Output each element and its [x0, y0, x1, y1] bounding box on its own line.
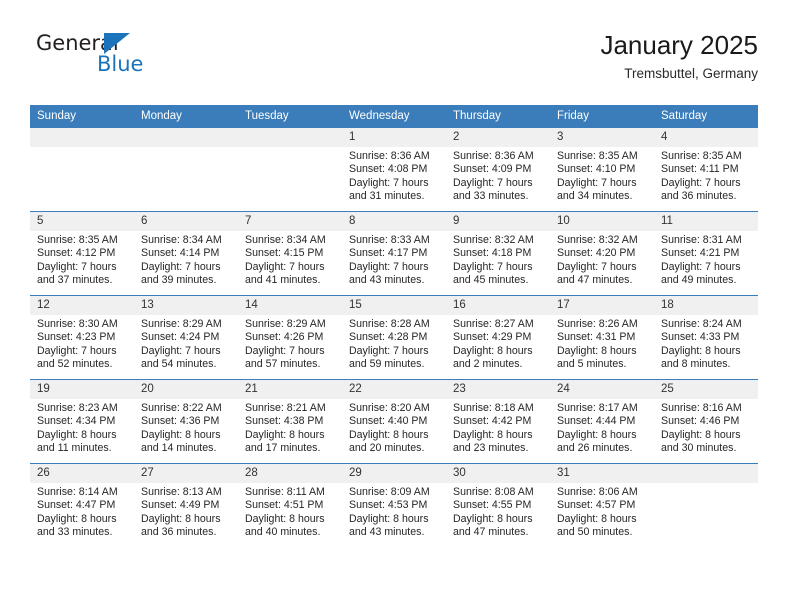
calendar-day-cell[interactable]: 3Sunrise: 8:35 AMSunset: 4:10 PMDaylight… — [550, 128, 654, 212]
daylight-duration-line-2: and 41 minutes. — [245, 274, 337, 287]
day-details: Sunrise: 8:36 AMSunset: 4:08 PMDaylight:… — [342, 147, 446, 204]
daylight-duration-line-1: Daylight: 7 hours — [557, 177, 649, 190]
sunrise-time: Sunrise: 8:29 AM — [245, 318, 337, 331]
daylight-duration-line-1: Daylight: 7 hours — [245, 345, 337, 358]
sunrise-time: Sunrise: 8:13 AM — [141, 486, 233, 499]
calendar-day-cell[interactable]: 9Sunrise: 8:32 AMSunset: 4:18 PMDaylight… — [446, 212, 550, 296]
sunset-time: Sunset: 4:36 PM — [141, 415, 233, 428]
day-number — [30, 128, 134, 147]
day-number: 1 — [342, 128, 446, 147]
daylight-duration-line-1: Daylight: 7 hours — [661, 261, 753, 274]
day-number: 3 — [550, 128, 654, 147]
sunset-time: Sunset: 4:51 PM — [245, 499, 337, 512]
day-number: 25 — [654, 380, 758, 399]
day-details: Sunrise: 8:22 AMSunset: 4:36 PMDaylight:… — [134, 399, 238, 456]
sunrise-time: Sunrise: 8:35 AM — [557, 150, 649, 163]
sunrise-time: Sunrise: 8:32 AM — [557, 234, 649, 247]
day-details: Sunrise: 8:13 AMSunset: 4:49 PMDaylight:… — [134, 483, 238, 540]
daylight-duration-line-2: and 23 minutes. — [453, 442, 545, 455]
daylight-duration-line-1: Daylight: 7 hours — [37, 261, 129, 274]
calendar-day-cell[interactable]: 16Sunrise: 8:27 AMSunset: 4:29 PMDayligh… — [446, 296, 550, 380]
calendar-day-cell[interactable]: 15Sunrise: 8:28 AMSunset: 4:28 PMDayligh… — [342, 296, 446, 380]
calendar-day-cell[interactable]: 2Sunrise: 8:36 AMSunset: 4:09 PMDaylight… — [446, 128, 550, 212]
daylight-duration-line-1: Daylight: 7 hours — [661, 177, 753, 190]
day-number: 4 — [654, 128, 758, 147]
sunset-time: Sunset: 4:46 PM — [661, 415, 753, 428]
sunrise-time: Sunrise: 8:11 AM — [245, 486, 337, 499]
sunset-time: Sunset: 4:12 PM — [37, 247, 129, 260]
day-details: Sunrise: 8:34 AMSunset: 4:15 PMDaylight:… — [238, 231, 342, 288]
day-details: Sunrise: 8:35 AMSunset: 4:12 PMDaylight:… — [30, 231, 134, 288]
calendar-day-cell[interactable]: 13Sunrise: 8:29 AMSunset: 4:24 PMDayligh… — [134, 296, 238, 380]
calendar-header-row: Sunday Monday Tuesday Wednesday Thursday… — [30, 105, 758, 128]
calendar-day-cell[interactable]: 5Sunrise: 8:35 AMSunset: 4:12 PMDaylight… — [30, 212, 134, 296]
sunrise-time: Sunrise: 8:23 AM — [37, 402, 129, 415]
day-number: 14 — [238, 296, 342, 315]
day-details — [134, 147, 238, 150]
sunset-time: Sunset: 4:18 PM — [453, 247, 545, 260]
weekday-header-saturday: Saturday — [654, 105, 758, 128]
daylight-duration-line-1: Daylight: 8 hours — [557, 345, 649, 358]
daylight-duration-line-2: and 34 minutes. — [557, 190, 649, 203]
sunrise-time: Sunrise: 8:36 AM — [453, 150, 545, 163]
day-number: 6 — [134, 212, 238, 231]
daylight-duration-line-1: Daylight: 8 hours — [661, 345, 753, 358]
sunset-time: Sunset: 4:31 PM — [557, 331, 649, 344]
calendar-day-cell[interactable]: 14Sunrise: 8:29 AMSunset: 4:26 PMDayligh… — [238, 296, 342, 380]
daylight-duration-line-2: and 43 minutes. — [349, 274, 441, 287]
weekday-header-wednesday: Wednesday — [342, 105, 446, 128]
daylight-duration-line-1: Daylight: 7 hours — [349, 177, 441, 190]
sunrise-time: Sunrise: 8:06 AM — [557, 486, 649, 499]
daylight-duration-line-1: Daylight: 8 hours — [557, 513, 649, 526]
day-details — [238, 147, 342, 150]
sunset-time: Sunset: 4:29 PM — [453, 331, 545, 344]
day-number: 16 — [446, 296, 550, 315]
calendar-day-cell[interactable]: 1Sunrise: 8:36 AMSunset: 4:08 PMDaylight… — [342, 128, 446, 212]
daylight-duration-line-1: Daylight: 8 hours — [349, 513, 441, 526]
sunset-time: Sunset: 4:24 PM — [141, 331, 233, 344]
day-number: 21 — [238, 380, 342, 399]
day-number: 24 — [550, 380, 654, 399]
weekday-header-tuesday: Tuesday — [238, 105, 342, 128]
day-number — [654, 464, 758, 483]
calendar-week-row: 19Sunrise: 8:23 AMSunset: 4:34 PMDayligh… — [30, 380, 758, 464]
sunrise-time: Sunrise: 8:17 AM — [557, 402, 649, 415]
day-details: Sunrise: 8:35 AMSunset: 4:11 PMDaylight:… — [654, 147, 758, 204]
daylight-duration-line-2: and 14 minutes. — [141, 442, 233, 455]
sunset-time: Sunset: 4:44 PM — [557, 415, 649, 428]
sunset-time: Sunset: 4:15 PM — [245, 247, 337, 260]
day-number: 26 — [30, 464, 134, 483]
daylight-duration-line-1: Daylight: 8 hours — [37, 429, 129, 442]
page-title: January 2025 — [600, 28, 758, 62]
calendar-day-cell-empty — [30, 128, 134, 212]
day-details: Sunrise: 8:23 AMSunset: 4:34 PMDaylight:… — [30, 399, 134, 456]
sunrise-time: Sunrise: 8:16 AM — [661, 402, 753, 415]
calendar-day-cell[interactable]: 25Sunrise: 8:16 AMSunset: 4:46 PMDayligh… — [654, 380, 758, 464]
sunrise-time: Sunrise: 8:21 AM — [245, 402, 337, 415]
day-number: 15 — [342, 296, 446, 315]
sunset-time: Sunset: 4:10 PM — [557, 163, 649, 176]
daylight-duration-line-2: and 47 minutes. — [557, 274, 649, 287]
weekday-header-thursday: Thursday — [446, 105, 550, 128]
day-number: 10 — [550, 212, 654, 231]
daylight-duration-line-2: and 39 minutes. — [141, 274, 233, 287]
daylight-duration-line-1: Daylight: 7 hours — [557, 261, 649, 274]
sunset-time: Sunset: 4:38 PM — [245, 415, 337, 428]
day-number: 2 — [446, 128, 550, 147]
daylight-duration-line-2: and 2 minutes. — [453, 358, 545, 371]
daylight-duration-line-2: and 30 minutes. — [661, 442, 753, 455]
sunrise-time: Sunrise: 8:34 AM — [141, 234, 233, 247]
daylight-duration-line-2: and 54 minutes. — [141, 358, 233, 371]
sunset-time: Sunset: 4:17 PM — [349, 247, 441, 260]
sunrise-time: Sunrise: 8:26 AM — [557, 318, 649, 331]
calendar-day-cell[interactable]: 23Sunrise: 8:18 AMSunset: 4:42 PMDayligh… — [446, 380, 550, 464]
day-number: 18 — [654, 296, 758, 315]
calendar-day-cell[interactable]: 22Sunrise: 8:20 AMSunset: 4:40 PMDayligh… — [342, 380, 446, 464]
daylight-duration-line-2: and 37 minutes. — [37, 274, 129, 287]
day-details: Sunrise: 8:27 AMSunset: 4:29 PMDaylight:… — [446, 315, 550, 372]
calendar-week-row: 1Sunrise: 8:36 AMSunset: 4:08 PMDaylight… — [30, 128, 758, 212]
weekday-header-sunday: Sunday — [30, 105, 134, 128]
day-details: Sunrise: 8:29 AMSunset: 4:24 PMDaylight:… — [134, 315, 238, 372]
sunset-time: Sunset: 4:42 PM — [453, 415, 545, 428]
sunset-time: Sunset: 4:14 PM — [141, 247, 233, 260]
sunset-time: Sunset: 4:23 PM — [37, 331, 129, 344]
sunrise-time: Sunrise: 8:14 AM — [37, 486, 129, 499]
calendar-day-cell[interactable]: 17Sunrise: 8:26 AMSunset: 4:31 PMDayligh… — [550, 296, 654, 380]
sunset-time: Sunset: 4:09 PM — [453, 163, 545, 176]
day-details: Sunrise: 8:18 AMSunset: 4:42 PMDaylight:… — [446, 399, 550, 456]
sunrise-time: Sunrise: 8:33 AM — [349, 234, 441, 247]
calendar-week-row: 12Sunrise: 8:30 AMSunset: 4:23 PMDayligh… — [30, 296, 758, 380]
day-number: 13 — [134, 296, 238, 315]
sunrise-time: Sunrise: 8:31 AM — [661, 234, 753, 247]
daylight-duration-line-2: and 5 minutes. — [557, 358, 649, 371]
sunset-time: Sunset: 4:21 PM — [661, 247, 753, 260]
daylight-duration-line-1: Daylight: 7 hours — [245, 261, 337, 274]
daylight-duration-line-2: and 26 minutes. — [557, 442, 649, 455]
day-details: Sunrise: 8:26 AMSunset: 4:31 PMDaylight:… — [550, 315, 654, 372]
daylight-duration-line-1: Daylight: 7 hours — [453, 261, 545, 274]
calendar-day-cell[interactable]: 19Sunrise: 8:23 AMSunset: 4:34 PMDayligh… — [30, 380, 134, 464]
daylight-duration-line-2: and 33 minutes. — [37, 526, 129, 539]
daylight-duration-line-2: and 49 minutes. — [661, 274, 753, 287]
daylight-duration-line-1: Daylight: 8 hours — [661, 429, 753, 442]
calendar-day-cell[interactable]: 24Sunrise: 8:17 AMSunset: 4:44 PMDayligh… — [550, 380, 654, 464]
sunset-time: Sunset: 4:47 PM — [37, 499, 129, 512]
logo-triangle-icon — [104, 33, 130, 54]
daylight-duration-line-2: and 50 minutes. — [557, 526, 649, 539]
calendar-day-cell[interactable]: 11Sunrise: 8:31 AMSunset: 4:21 PMDayligh… — [654, 212, 758, 296]
daylight-duration-line-1: Daylight: 7 hours — [37, 345, 129, 358]
day-details: Sunrise: 8:11 AMSunset: 4:51 PMDaylight:… — [238, 483, 342, 540]
daylight-duration-line-1: Daylight: 8 hours — [141, 429, 233, 442]
calendar-day-cell[interactable]: 18Sunrise: 8:24 AMSunset: 4:33 PMDayligh… — [654, 296, 758, 380]
day-number: 7 — [238, 212, 342, 231]
calendar-day-cell[interactable]: 21Sunrise: 8:21 AMSunset: 4:38 PMDayligh… — [238, 380, 342, 464]
daylight-duration-line-2: and 52 minutes. — [37, 358, 129, 371]
day-number: 8 — [342, 212, 446, 231]
sunrise-time: Sunrise: 8:35 AM — [661, 150, 753, 163]
day-details: Sunrise: 8:31 AMSunset: 4:21 PMDaylight:… — [654, 231, 758, 288]
daylight-duration-line-2: and 31 minutes. — [349, 190, 441, 203]
sunrise-time: Sunrise: 8:32 AM — [453, 234, 545, 247]
day-details: Sunrise: 8:32 AMSunset: 4:18 PMDaylight:… — [446, 231, 550, 288]
sunset-time: Sunset: 4:55 PM — [453, 499, 545, 512]
daylight-duration-line-1: Daylight: 8 hours — [453, 513, 545, 526]
weekday-header-friday: Friday — [550, 105, 654, 128]
sunset-time: Sunset: 4:49 PM — [141, 499, 233, 512]
day-details: Sunrise: 8:20 AMSunset: 4:40 PMDaylight:… — [342, 399, 446, 456]
calendar-day-cell[interactable]: 4Sunrise: 8:35 AMSunset: 4:11 PMDaylight… — [654, 128, 758, 212]
calendar-day-cell[interactable]: 8Sunrise: 8:33 AMSunset: 4:17 PMDaylight… — [342, 212, 446, 296]
sunrise-time: Sunrise: 8:22 AM — [141, 402, 233, 415]
daylight-duration-line-1: Daylight: 8 hours — [557, 429, 649, 442]
daylight-duration-line-2: and 40 minutes. — [245, 526, 337, 539]
calendar-day-cell[interactable]: 7Sunrise: 8:34 AMSunset: 4:15 PMDaylight… — [238, 212, 342, 296]
calendar-day-cell[interactable]: 12Sunrise: 8:30 AMSunset: 4:23 PMDayligh… — [30, 296, 134, 380]
sunset-time: Sunset: 4:20 PM — [557, 247, 649, 260]
day-details: Sunrise: 8:14 AMSunset: 4:47 PMDaylight:… — [30, 483, 134, 540]
day-details: Sunrise: 8:33 AMSunset: 4:17 PMDaylight:… — [342, 231, 446, 288]
logo-text-blue: Blue — [97, 52, 143, 76]
daylight-duration-line-1: Daylight: 8 hours — [453, 345, 545, 358]
calendar-day-cell[interactable]: 20Sunrise: 8:22 AMSunset: 4:36 PMDayligh… — [134, 380, 238, 464]
daylight-duration-line-1: Daylight: 8 hours — [453, 429, 545, 442]
day-number — [134, 128, 238, 147]
sunset-time: Sunset: 4:53 PM — [349, 499, 441, 512]
day-number: 23 — [446, 380, 550, 399]
day-details: Sunrise: 8:30 AMSunset: 4:23 PMDaylight:… — [30, 315, 134, 372]
calendar-week-row: 26Sunrise: 8:14 AMSunset: 4:47 PMDayligh… — [30, 464, 758, 548]
day-details — [30, 147, 134, 150]
day-number: 19 — [30, 380, 134, 399]
calendar-day-cell[interactable]: 30Sunrise: 8:08 AMSunset: 4:55 PMDayligh… — [446, 464, 550, 548]
day-details: Sunrise: 8:35 AMSunset: 4:10 PMDaylight:… — [550, 147, 654, 204]
sunrise-time: Sunrise: 8:18 AM — [453, 402, 545, 415]
calendar-week-row: 5Sunrise: 8:35 AMSunset: 4:12 PMDaylight… — [30, 212, 758, 296]
calendar-body: 1Sunrise: 8:36 AMSunset: 4:08 PMDaylight… — [30, 128, 758, 548]
day-number: 30 — [446, 464, 550, 483]
daylight-duration-line-1: Daylight: 7 hours — [453, 177, 545, 190]
daylight-duration-line-1: Daylight: 7 hours — [349, 345, 441, 358]
day-number — [238, 128, 342, 147]
day-number: 27 — [134, 464, 238, 483]
daylight-duration-line-2: and 33 minutes. — [453, 190, 545, 203]
sunrise-time: Sunrise: 8:36 AM — [349, 150, 441, 163]
day-number: 31 — [550, 464, 654, 483]
day-number: 28 — [238, 464, 342, 483]
sunset-time: Sunset: 4:08 PM — [349, 163, 441, 176]
calendar-day-cell-empty — [238, 128, 342, 212]
general-blue-logo: General Blue — [36, 31, 216, 87]
day-details: Sunrise: 8:29 AMSunset: 4:26 PMDaylight:… — [238, 315, 342, 372]
sunset-time: Sunset: 4:11 PM — [661, 163, 753, 176]
sunrise-time: Sunrise: 8:35 AM — [37, 234, 129, 247]
calendar-day-cell[interactable]: 29Sunrise: 8:09 AMSunset: 4:53 PMDayligh… — [342, 464, 446, 548]
day-number: 20 — [134, 380, 238, 399]
day-details: Sunrise: 8:16 AMSunset: 4:46 PMDaylight:… — [654, 399, 758, 456]
day-number: 29 — [342, 464, 446, 483]
day-details: Sunrise: 8:36 AMSunset: 4:09 PMDaylight:… — [446, 147, 550, 204]
daylight-duration-line-2: and 45 minutes. — [453, 274, 545, 287]
daylight-duration-line-1: Daylight: 7 hours — [141, 345, 233, 358]
daylight-duration-line-2: and 11 minutes. — [37, 442, 129, 455]
daylight-duration-line-2: and 43 minutes. — [349, 526, 441, 539]
calendar-day-cell[interactable]: 28Sunrise: 8:11 AMSunset: 4:51 PMDayligh… — [238, 464, 342, 548]
sunrise-time: Sunrise: 8:09 AM — [349, 486, 441, 499]
calendar-day-cell[interactable]: 6Sunrise: 8:34 AMSunset: 4:14 PMDaylight… — [134, 212, 238, 296]
day-number: 22 — [342, 380, 446, 399]
sunset-time: Sunset: 4:34 PM — [37, 415, 129, 428]
sunrise-time: Sunrise: 8:29 AM — [141, 318, 233, 331]
daylight-duration-line-2: and 20 minutes. — [349, 442, 441, 455]
sunset-time: Sunset: 4:57 PM — [557, 499, 649, 512]
title-block: January 2025 Tremsbuttel, Germany — [600, 28, 758, 84]
day-details: Sunrise: 8:06 AMSunset: 4:57 PMDaylight:… — [550, 483, 654, 540]
day-number: 9 — [446, 212, 550, 231]
daylight-duration-line-2: and 36 minutes. — [141, 526, 233, 539]
sunrise-time: Sunrise: 8:34 AM — [245, 234, 337, 247]
daylight-duration-line-1: Daylight: 8 hours — [245, 513, 337, 526]
day-details — [654, 483, 758, 486]
calendar-day-cell[interactable]: 26Sunrise: 8:14 AMSunset: 4:47 PMDayligh… — [30, 464, 134, 548]
daylight-duration-line-1: Daylight: 8 hours — [141, 513, 233, 526]
day-number: 11 — [654, 212, 758, 231]
calendar-grid: Sunday Monday Tuesday Wednesday Thursday… — [30, 105, 758, 547]
day-details: Sunrise: 8:32 AMSunset: 4:20 PMDaylight:… — [550, 231, 654, 288]
daylight-duration-line-1: Daylight: 7 hours — [349, 261, 441, 274]
daylight-duration-line-1: Daylight: 8 hours — [37, 513, 129, 526]
daylight-duration-line-2: and 57 minutes. — [245, 358, 337, 371]
day-details: Sunrise: 8:28 AMSunset: 4:28 PMDaylight:… — [342, 315, 446, 372]
sunset-time: Sunset: 4:26 PM — [245, 331, 337, 344]
sunrise-time: Sunrise: 8:27 AM — [453, 318, 545, 331]
daylight-duration-line-1: Daylight: 7 hours — [141, 261, 233, 274]
daylight-duration-line-2: and 47 minutes. — [453, 526, 545, 539]
daylight-duration-line-1: Daylight: 8 hours — [349, 429, 441, 442]
day-details: Sunrise: 8:24 AMSunset: 4:33 PMDaylight:… — [654, 315, 758, 372]
sunrise-time: Sunrise: 8:28 AM — [349, 318, 441, 331]
day-number: 17 — [550, 296, 654, 315]
day-details: Sunrise: 8:34 AMSunset: 4:14 PMDaylight:… — [134, 231, 238, 288]
calendar-day-cell-empty — [134, 128, 238, 212]
calendar-day-cell[interactable]: 31Sunrise: 8:06 AMSunset: 4:57 PMDayligh… — [550, 464, 654, 548]
sunrise-time: Sunrise: 8:08 AM — [453, 486, 545, 499]
calendar-day-cell[interactable]: 27Sunrise: 8:13 AMSunset: 4:49 PMDayligh… — [134, 464, 238, 548]
daylight-duration-line-2: and 36 minutes. — [661, 190, 753, 203]
sunrise-time: Sunrise: 8:24 AM — [661, 318, 753, 331]
calendar-page: General Blue January 2025 Tremsbuttel, G… — [0, 0, 792, 612]
day-details: Sunrise: 8:09 AMSunset: 4:53 PMDaylight:… — [342, 483, 446, 540]
day-details: Sunrise: 8:17 AMSunset: 4:44 PMDaylight:… — [550, 399, 654, 456]
calendar-day-cell-empty — [654, 464, 758, 548]
daylight-duration-line-2: and 17 minutes. — [245, 442, 337, 455]
calendar-day-cell[interactable]: 10Sunrise: 8:32 AMSunset: 4:20 PMDayligh… — [550, 212, 654, 296]
sunset-time: Sunset: 4:40 PM — [349, 415, 441, 428]
sunset-time: Sunset: 4:33 PM — [661, 331, 753, 344]
daylight-duration-line-1: Daylight: 8 hours — [245, 429, 337, 442]
daylight-duration-line-2: and 8 minutes. — [661, 358, 753, 371]
day-number: 5 — [30, 212, 134, 231]
day-details: Sunrise: 8:21 AMSunset: 4:38 PMDaylight:… — [238, 399, 342, 456]
day-details: Sunrise: 8:08 AMSunset: 4:55 PMDaylight:… — [446, 483, 550, 540]
page-subtitle: Tremsbuttel, Germany — [600, 64, 758, 84]
page-header: General Blue January 2025 Tremsbuttel, G… — [30, 28, 758, 94]
day-number: 12 — [30, 296, 134, 315]
weekday-header-monday: Monday — [134, 105, 238, 128]
sunrise-time: Sunrise: 8:30 AM — [37, 318, 129, 331]
sunrise-time: Sunrise: 8:20 AM — [349, 402, 441, 415]
daylight-duration-line-2: and 59 minutes. — [349, 358, 441, 371]
sunset-time: Sunset: 4:28 PM — [349, 331, 441, 344]
